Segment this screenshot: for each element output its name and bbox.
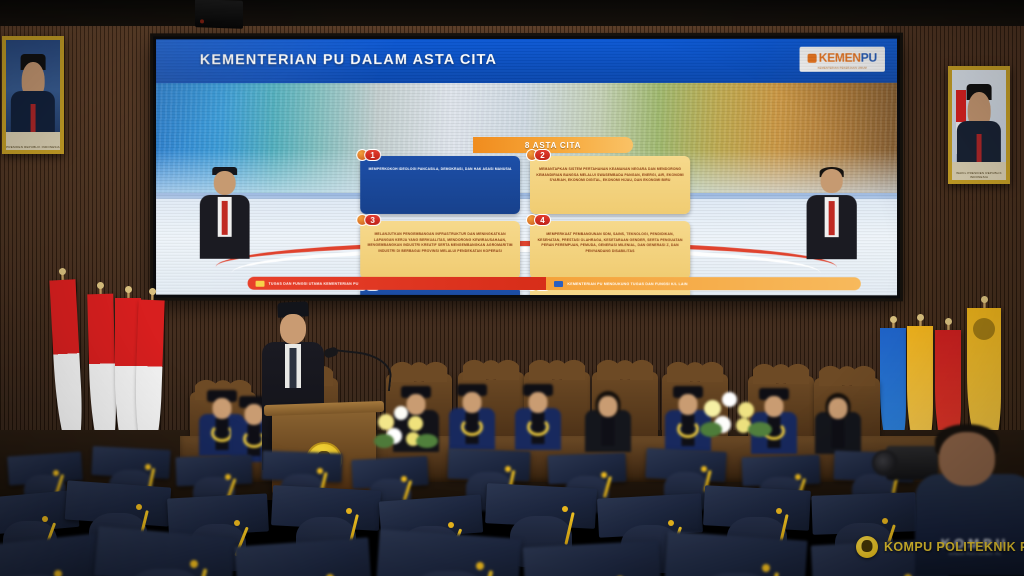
card-badge: 4 bbox=[526, 214, 551, 226]
slide-figure-minister bbox=[801, 167, 863, 259]
slide-body: 8 ASTA CITA bbox=[156, 83, 897, 296]
card-text: MEMANTAPKAN SISTEM PERTAHANAN KEAMANAN N… bbox=[536, 167, 684, 184]
flag-emblem-icon bbox=[973, 318, 995, 340]
kemenpu-mark-icon bbox=[808, 54, 817, 63]
card-badge: 2 bbox=[526, 149, 551, 161]
card-number: 1 bbox=[364, 149, 381, 161]
legend-item-primary: TUGAS DAN FUNGSI UTAMA KEMENTERIAN PU bbox=[248, 277, 547, 290]
logo-text-secondary: PU bbox=[861, 51, 877, 65]
mortarboard-cap bbox=[666, 536, 806, 576]
portrait-tie bbox=[977, 134, 982, 163]
watermark-text: KOMPU POLITEKNIK PU bbox=[884, 540, 1024, 554]
presentation-slide: KEMENTERIAN PU DALAM ASTA CITA KEMENPU K… bbox=[156, 39, 897, 296]
screenshot-root: PRESIDEN REPUBLIK INDONESIA WAKIL PRESID… bbox=[0, 0, 1024, 576]
asta-cita-card: 4 MEMPERKUAT PEMBANGUNAN SDM, SAINS, TEK… bbox=[530, 221, 690, 279]
legend-swatch-icon bbox=[256, 280, 265, 286]
card-number: 2 bbox=[534, 149, 551, 161]
mortarboard-cap bbox=[236, 542, 370, 576]
asta-cita-card: 1 MEMPERKOKOH IDEOLOGI PANCASILA, DEMOKR… bbox=[360, 156, 520, 214]
logo-text-primary: KEMEN bbox=[819, 51, 861, 65]
microphone-icon bbox=[330, 352, 400, 414]
legend-label: TUGAS DAN FUNGSI UTAMA KEMENTERIAN PU bbox=[269, 281, 359, 285]
mortarboard-cap bbox=[0, 540, 100, 576]
slide-figure-president bbox=[194, 167, 256, 259]
card-badge: 1 bbox=[356, 149, 381, 161]
portrait-tie bbox=[31, 104, 36, 133]
card-text: MEMPERKOKOH IDEOLOGI PANCASILA, DEMOKRAS… bbox=[366, 167, 514, 173]
card-text: MEMPERKUAT PEMBANGUNAN SDM, SAINS, TEKNO… bbox=[536, 232, 684, 255]
legend-item-support: KEMENTERIAN PU MENDUKUNG TUGAS DAN FUNGS… bbox=[546, 277, 860, 290]
card-badge: 3 bbox=[356, 214, 381, 226]
slide-title: KEMENTERIAN PU DALAM ASTA CITA bbox=[200, 52, 497, 68]
portrait-caption: WAKIL PRESIDEN REPUBLIK INDONESIA bbox=[952, 171, 1006, 179]
kemenpu-logo: KEMENPU KEMENTERIAN PEKERJAAN UMUM bbox=[800, 47, 885, 72]
watermark: KOMPU POLITEKNIK PU bbox=[856, 536, 1024, 558]
mortarboard-cap bbox=[378, 534, 520, 576]
card-number: 3 bbox=[364, 214, 381, 226]
mortarboard-cap bbox=[96, 532, 234, 576]
asta-cita-card: 2 MEMANTAPKAN SISTEM PERTAHANAN KEAMANAN… bbox=[530, 156, 690, 214]
asta-cita-card-grid: 1 MEMPERKOKOH IDEOLOGI PANCASILA, DEMOKR… bbox=[360, 156, 690, 295]
kompu-logo-icon bbox=[856, 536, 878, 558]
legend-swatch-icon bbox=[554, 281, 563, 287]
card-number: 4 bbox=[534, 214, 551, 226]
asta-cita-card: 3 MELANJUTKAN PENGEMBANGAN INFRASTRUKTUR… bbox=[360, 221, 520, 279]
portrait-vice-president: WAKIL PRESIDEN REPUBLIK INDONESIA bbox=[948, 66, 1010, 184]
projection-screen: KEMENTERIAN PU DALAM ASTA CITA KEMENPU K… bbox=[153, 36, 900, 299]
portrait-caption: PRESIDEN REPUBLIK INDONESIA bbox=[6, 145, 60, 149]
legend-label: KEMENTERIAN PU MENDUKUNG TUGAS DAN FUNGS… bbox=[567, 282, 687, 286]
slide-legend: TUGAS DAN FUNGSI UTAMA KEMENTERIAN PU KE… bbox=[248, 277, 861, 291]
card-text: MELANJUTKAN PENGEMBANGAN INFRASTRUKTUR D… bbox=[366, 232, 514, 255]
portrait-president: PRESIDEN REPUBLIK INDONESIA bbox=[2, 36, 64, 154]
ceiling-speaker-icon bbox=[195, 0, 243, 29]
ceiling-band bbox=[0, 0, 1024, 26]
asta-cita-banner: 8 ASTA CITA bbox=[473, 137, 633, 153]
logo-tagline: KEMENTERIAN PEKERJAAN UMUM bbox=[808, 67, 877, 70]
mortarboard-cap bbox=[524, 544, 660, 576]
